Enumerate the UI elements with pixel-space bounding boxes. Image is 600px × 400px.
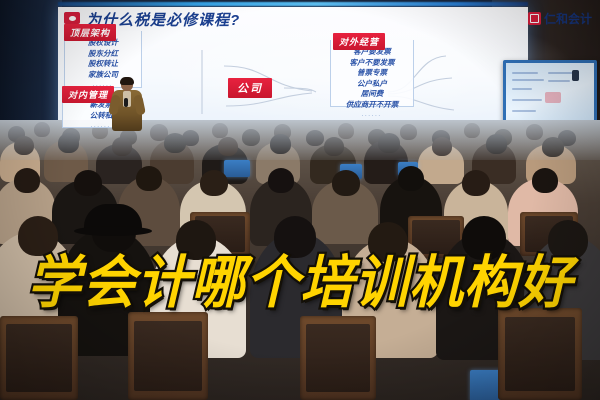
ceiling-light-strip (58, 2, 528, 6)
center-node-company: 公司 (228, 78, 272, 98)
list-item: 供应商开不开票 (335, 100, 409, 111)
list-item: 居间费 (335, 89, 409, 100)
box-header-internal-management: 对内管理 (62, 86, 114, 103)
presenter (110, 78, 144, 131)
list-item: 普票专票 (335, 68, 409, 79)
list-item: 股东分红 (69, 49, 137, 60)
list-ellipsis: ...... (335, 110, 409, 121)
box-header-external-business: 对外经营 (333, 33, 385, 50)
list-item: 股权转让 (69, 59, 137, 70)
list-item: 公户私户 (335, 79, 409, 90)
microphone-icon (124, 98, 128, 107)
overlay-headline: 学会计哪个培训机构好 (0, 252, 600, 314)
screenshot-root: 为什么税是必修课程? 仁和会计 顶层架构 股权设计 股东分红 股权转让 家族公司… (0, 0, 600, 400)
hat-brim (74, 226, 152, 236)
red-square-bullet-icon (64, 12, 80, 24)
list-item: 客户不要发票 (335, 58, 409, 69)
box-external-business: 客户要发票 客户不要发票 普票专票 公户私户 居间费 供应商开不开票 .....… (330, 40, 414, 107)
box-header-top-structure: 顶层架构 (64, 24, 116, 41)
overlay-headline-text: 学会计哪个培训机构好 (27, 252, 572, 314)
